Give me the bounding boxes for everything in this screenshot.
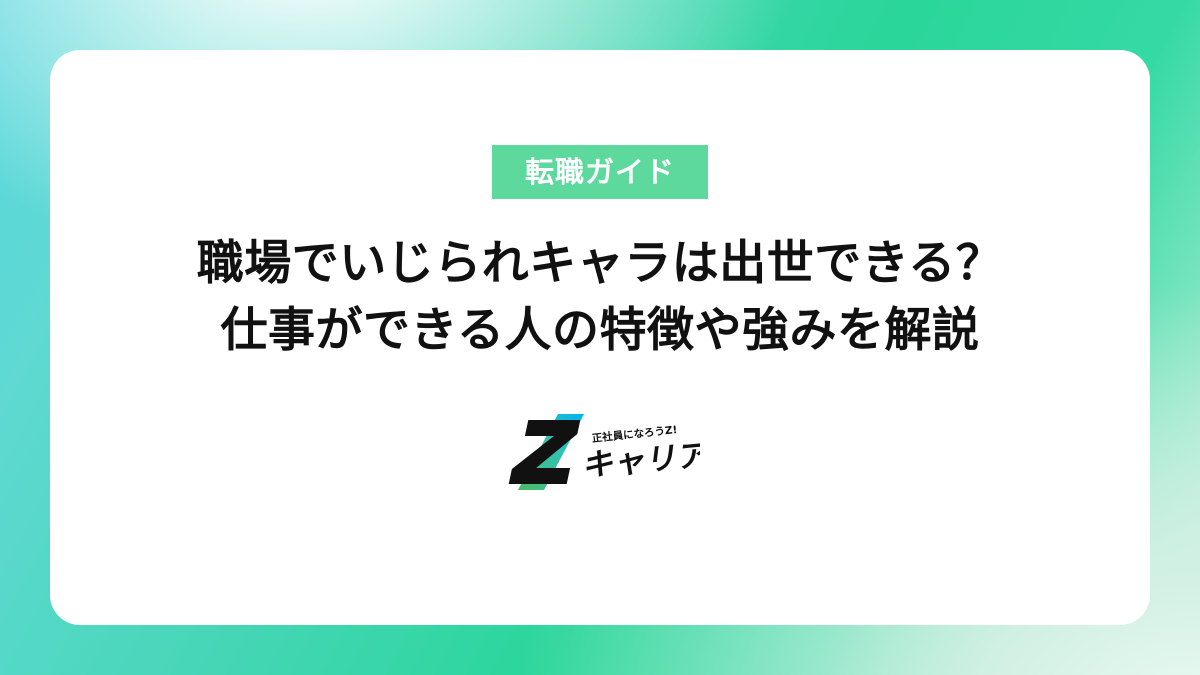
logo-wordmark: キャリア [582, 438, 700, 484]
brand-logo: 正社員になろうZ! キャリア [500, 412, 700, 492]
logo-wordmark-text: キャリア [582, 438, 700, 484]
category-badge: 転職ガイド [492, 145, 708, 199]
z-mark-letter [509, 420, 581, 484]
brand-logo-graphic: 正社員になろうZ! キャリア [500, 412, 700, 492]
category-badge-label: 転職ガイド [525, 158, 675, 187]
page-title-line-1: 職場でいじられキャラは出世できる？ [197, 231, 1004, 298]
article-thumbnail-card: 転職ガイド 職場でいじられキャラは出世できる？ 仕事ができる人の特徴や強みを解説 [50, 50, 1150, 625]
page-background: 転職ガイド 職場でいじられキャラは出世できる？ 仕事ができる人の特徴や強みを解説 [0, 0, 1200, 675]
page-title: 職場でいじられキャラは出世できる？ 仕事ができる人の特徴や強みを解説 [197, 231, 1004, 364]
page-title-line-2: 仕事ができる人の特徴や強みを解説 [197, 298, 1004, 365]
